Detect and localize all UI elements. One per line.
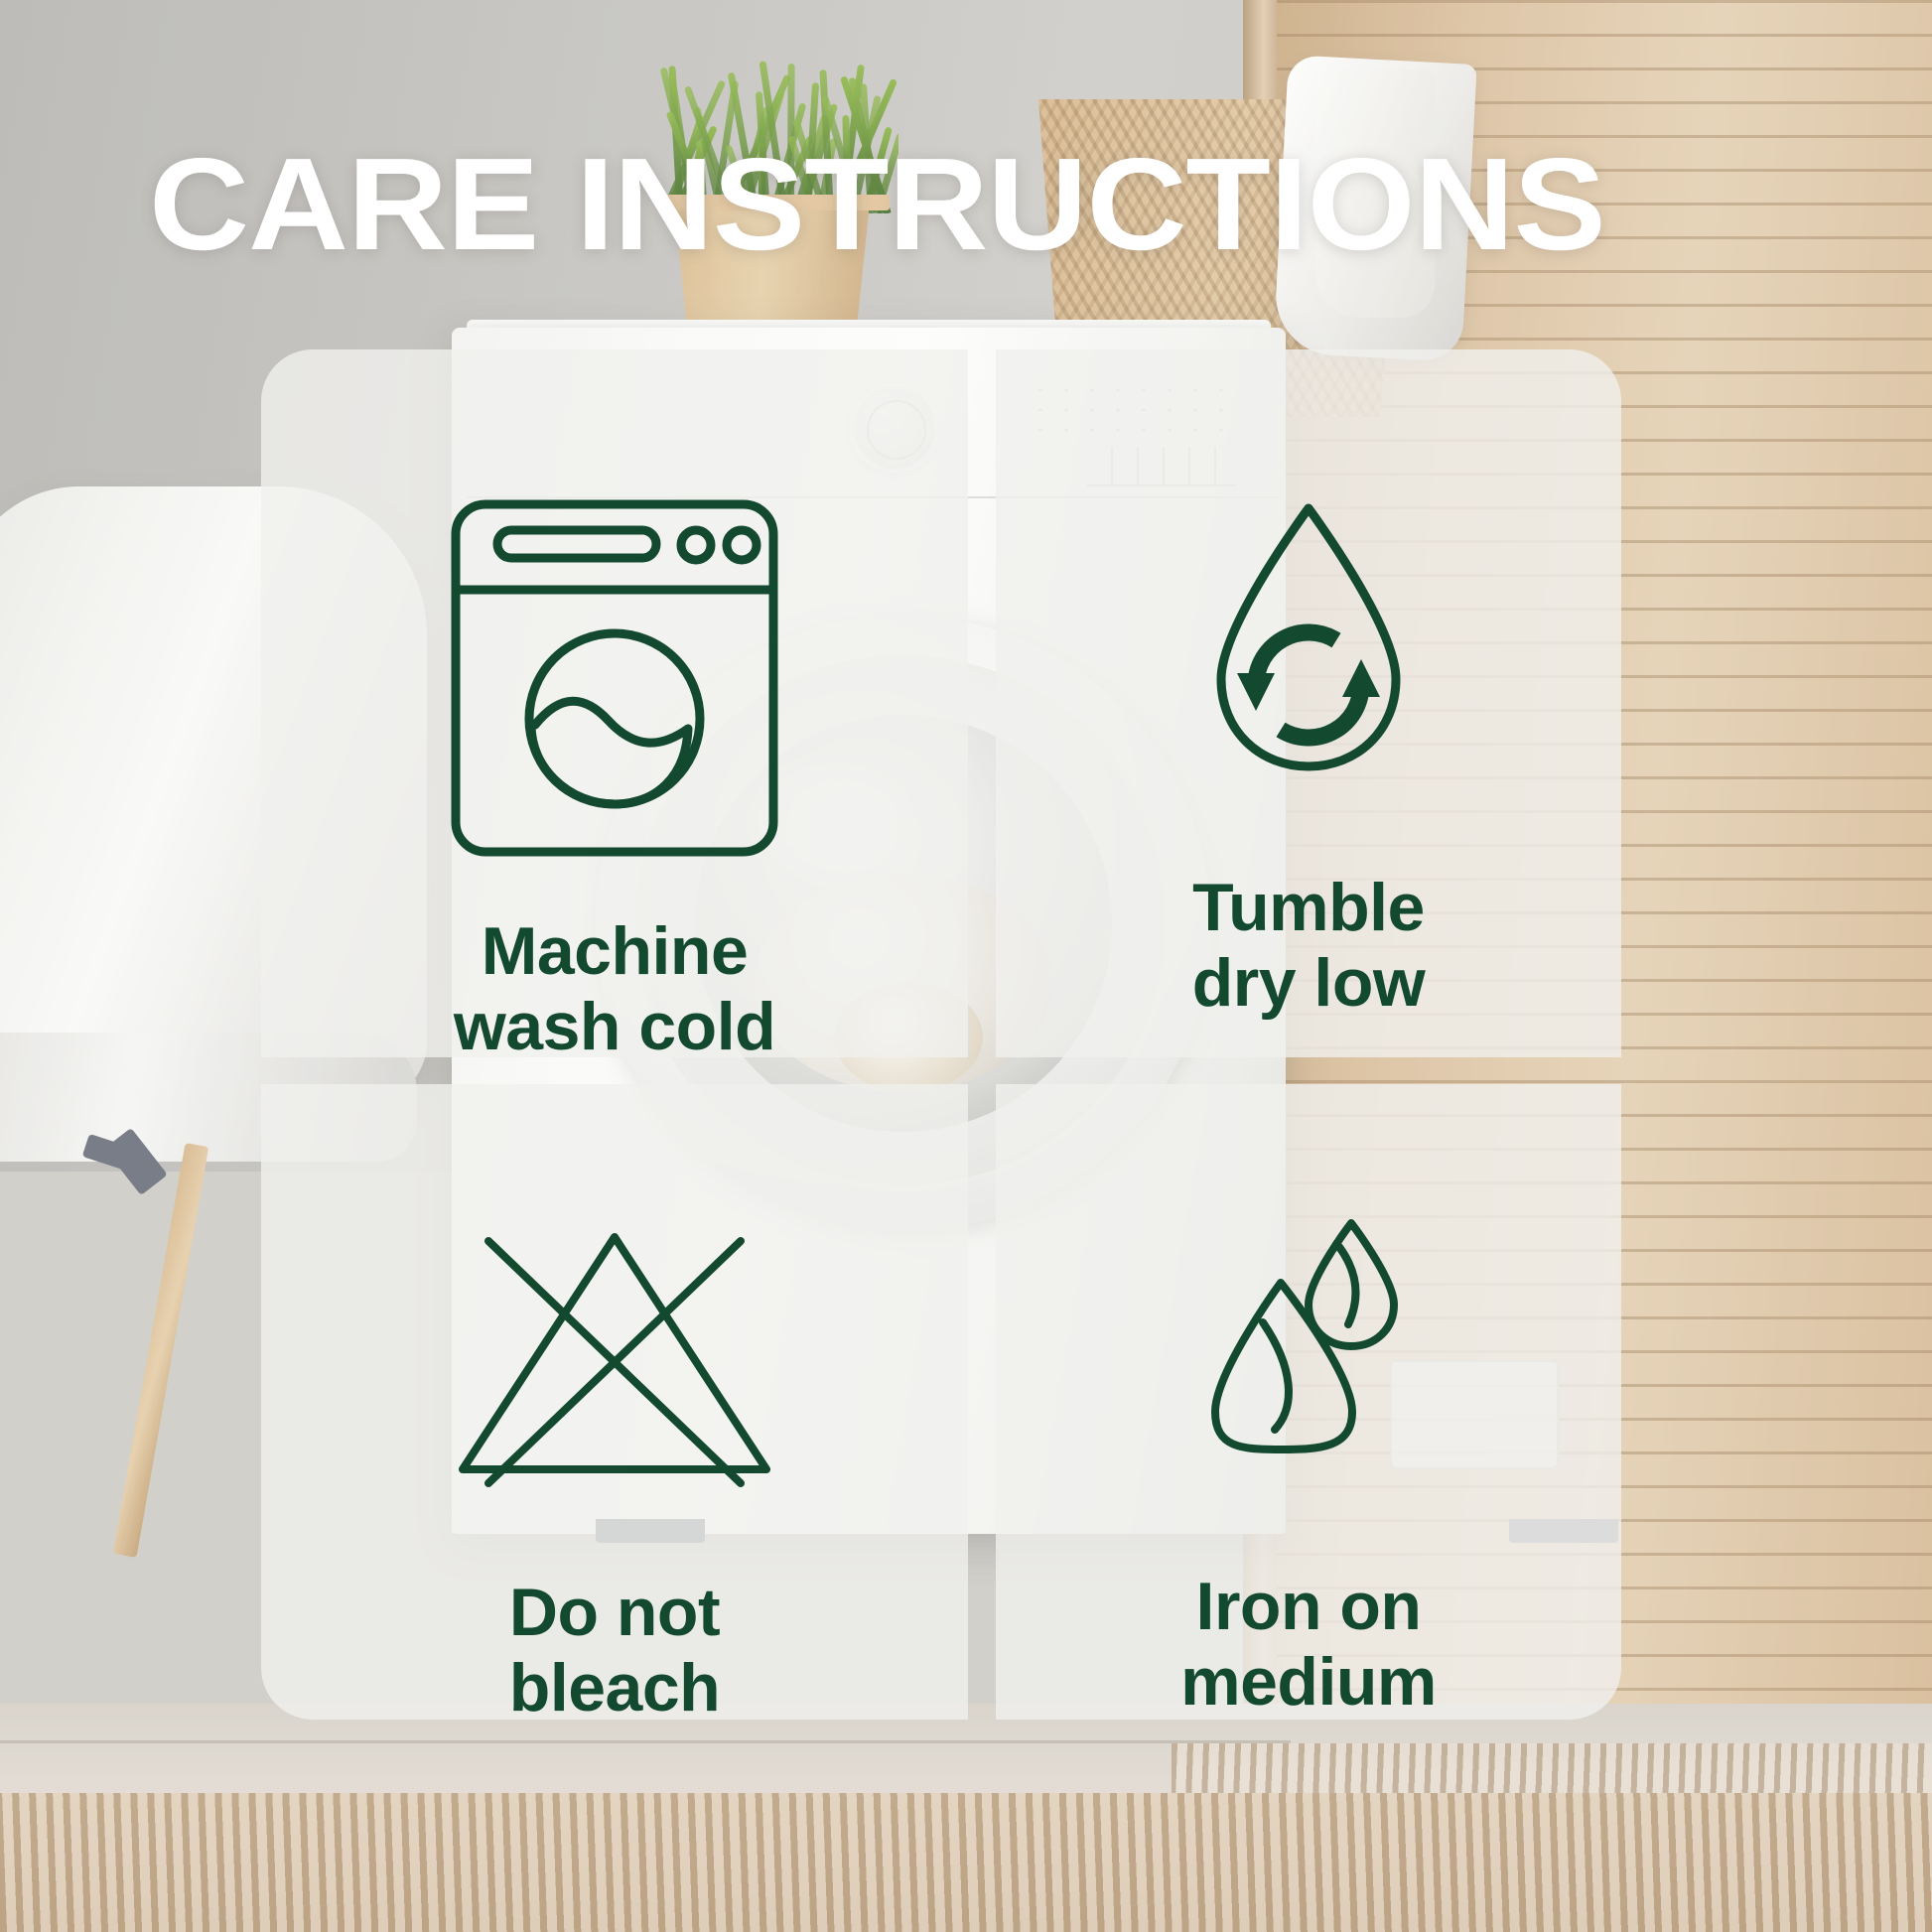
washing-machine-icon	[450, 498, 779, 858]
tumble-dry-droplet-icon	[1209, 488, 1408, 786]
care-instructions-grid: Machine wash cold Tumble dry low	[261, 349, 1621, 1720]
care-panel-machine-wash-cold[interactable]: Machine wash cold	[261, 349, 968, 1057]
do-not-bleach-triangle-icon	[451, 1223, 778, 1489]
care-panel-iron-on-medium[interactable]: Iron on medium	[996, 1084, 1621, 1720]
care-panel-label: Do not bleach	[509, 1575, 720, 1725]
care-panel-tumble-dry-low[interactable]: Tumble dry low	[996, 349, 1621, 1057]
care-panel-label: Tumble dry low	[1192, 870, 1426, 1021]
care-panel-do-not-bleach[interactable]: Do not bleach	[261, 1084, 968, 1720]
care-panel-label: Machine wash cold	[454, 913, 775, 1064]
care-panel-label: Iron on medium	[1180, 1569, 1437, 1720]
page-title: CARE INSTRUCTIONS	[149, 139, 1896, 270]
water-droplets-icon	[1209, 1213, 1408, 1459]
